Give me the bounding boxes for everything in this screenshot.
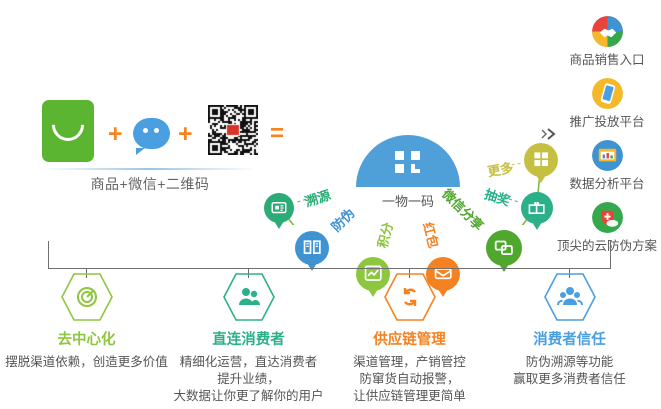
arc-node-gift[interactable] (521, 192, 553, 224)
hexagon-frame (60, 272, 114, 322)
arc-node-label: 更多 (485, 157, 514, 180)
mobile-phone-icon (592, 78, 623, 109)
grid-icon (531, 149, 551, 169)
benefit-line: 提升业绩， (166, 371, 331, 388)
benefit-line: 渠道管理，产销管控 (327, 354, 492, 371)
hexagon-frame (383, 272, 437, 322)
benefit-column: 直连消费者精细化运营，直达消费者提升业绩，大数据让你更了解你的用户 (166, 272, 331, 405)
benefit-line: 大数据让你更了解你的用户 (166, 388, 331, 405)
arc-diagram: 溯源防伪积分红包微信分享抽奖更多 一物一码 (262, 25, 552, 225)
analytics-icon (592, 140, 623, 171)
benefit-title: 消费者信任 (487, 328, 652, 349)
benefit-line: 让供应链管理更简单 (327, 388, 492, 405)
benefit-line: 摆脱渠道依赖，创造更多价值 (4, 354, 169, 371)
wechat-eye-right (154, 128, 159, 133)
platform-item[interactable]: 数据分析平台 (553, 140, 661, 192)
infographic-canvas: + + = 商品+微信+二维码 溯源防伪积分红包微信分享抽奖更多 (0, 0, 661, 409)
benefit-column: 供应链管理渠道管理，产销管控防窜货自动报警，让供应链管理更简单 (327, 272, 492, 405)
benefit-description: 精细化运营，直达消费者提升业绩，大数据让你更了解你的用户 (166, 354, 331, 405)
benefit-description: 摆脱渠道依赖，创造更多价值 (4, 354, 169, 371)
benefit-column: 消费者信任防伪溯源等功能赢取更多消费者信任 (487, 272, 652, 388)
formula-caption: 商品+微信+二维码 (30, 174, 270, 194)
formula-group: + + = 商品+微信+二维码 (30, 90, 280, 200)
gift-icon (527, 198, 546, 217)
target-icon (60, 272, 114, 322)
center-label: 一物一码 (336, 191, 480, 210)
formula-divider (42, 168, 257, 170)
benefit-description: 渠道管理，产销管控防窜货自动报警，让供应链管理更简单 (327, 354, 492, 405)
shopping-bag-icon (42, 100, 94, 162)
benefit-line: 精细化运营，直达消费者 (166, 354, 331, 371)
benefit-title: 去中心化 (4, 328, 169, 349)
plus-sign-2: + (178, 122, 193, 147)
benefit-description: 防伪溯源等功能赢取更多消费者信任 (487, 354, 652, 388)
monitor-icon (270, 199, 288, 217)
qr-code-icon (208, 105, 258, 155)
benefit-line: 防伪溯源等功能 (487, 354, 652, 371)
platform-item[interactable]: 推广投放平台 (553, 78, 661, 130)
platform-list: 商品销售入口推广投放平台数据分析平台顶尖的云防伪方案 (553, 16, 661, 231)
hexagon-frame (222, 272, 276, 322)
handshake-icon (592, 16, 623, 47)
platform-label: 商品销售入口 (553, 49, 661, 68)
qr-dome-icon (356, 135, 460, 187)
users-icon (222, 272, 276, 322)
benefit-title: 供应链管理 (327, 328, 492, 349)
bag-handle (45, 102, 90, 147)
benefit-title: 直连消费者 (166, 328, 331, 349)
platform-label: 数据分析平台 (553, 173, 661, 192)
platform-item[interactable]: 商品销售入口 (553, 16, 661, 68)
refresh-cycle-icon (383, 272, 437, 322)
benefit-line: 防窜货自动报警， (327, 371, 492, 388)
benefits-row: 去中心化摆脱渠道依赖，创造更多价值直连消费者精细化运营，直达消费者提升业绩，大数… (0, 272, 661, 409)
trust-users-icon (543, 272, 597, 322)
benefit-column: 去中心化摆脱渠道依赖，创造更多价值 (4, 272, 169, 371)
hexagon-frame (543, 272, 597, 322)
platform-label: 推广投放平台 (553, 111, 661, 130)
wechat-eye-left (143, 128, 148, 133)
cloud-shield-icon (592, 202, 623, 233)
wechat-icon (133, 118, 170, 149)
plus-sign-1: + (108, 122, 123, 147)
benefit-line: 赢取更多消费者信任 (487, 371, 652, 388)
